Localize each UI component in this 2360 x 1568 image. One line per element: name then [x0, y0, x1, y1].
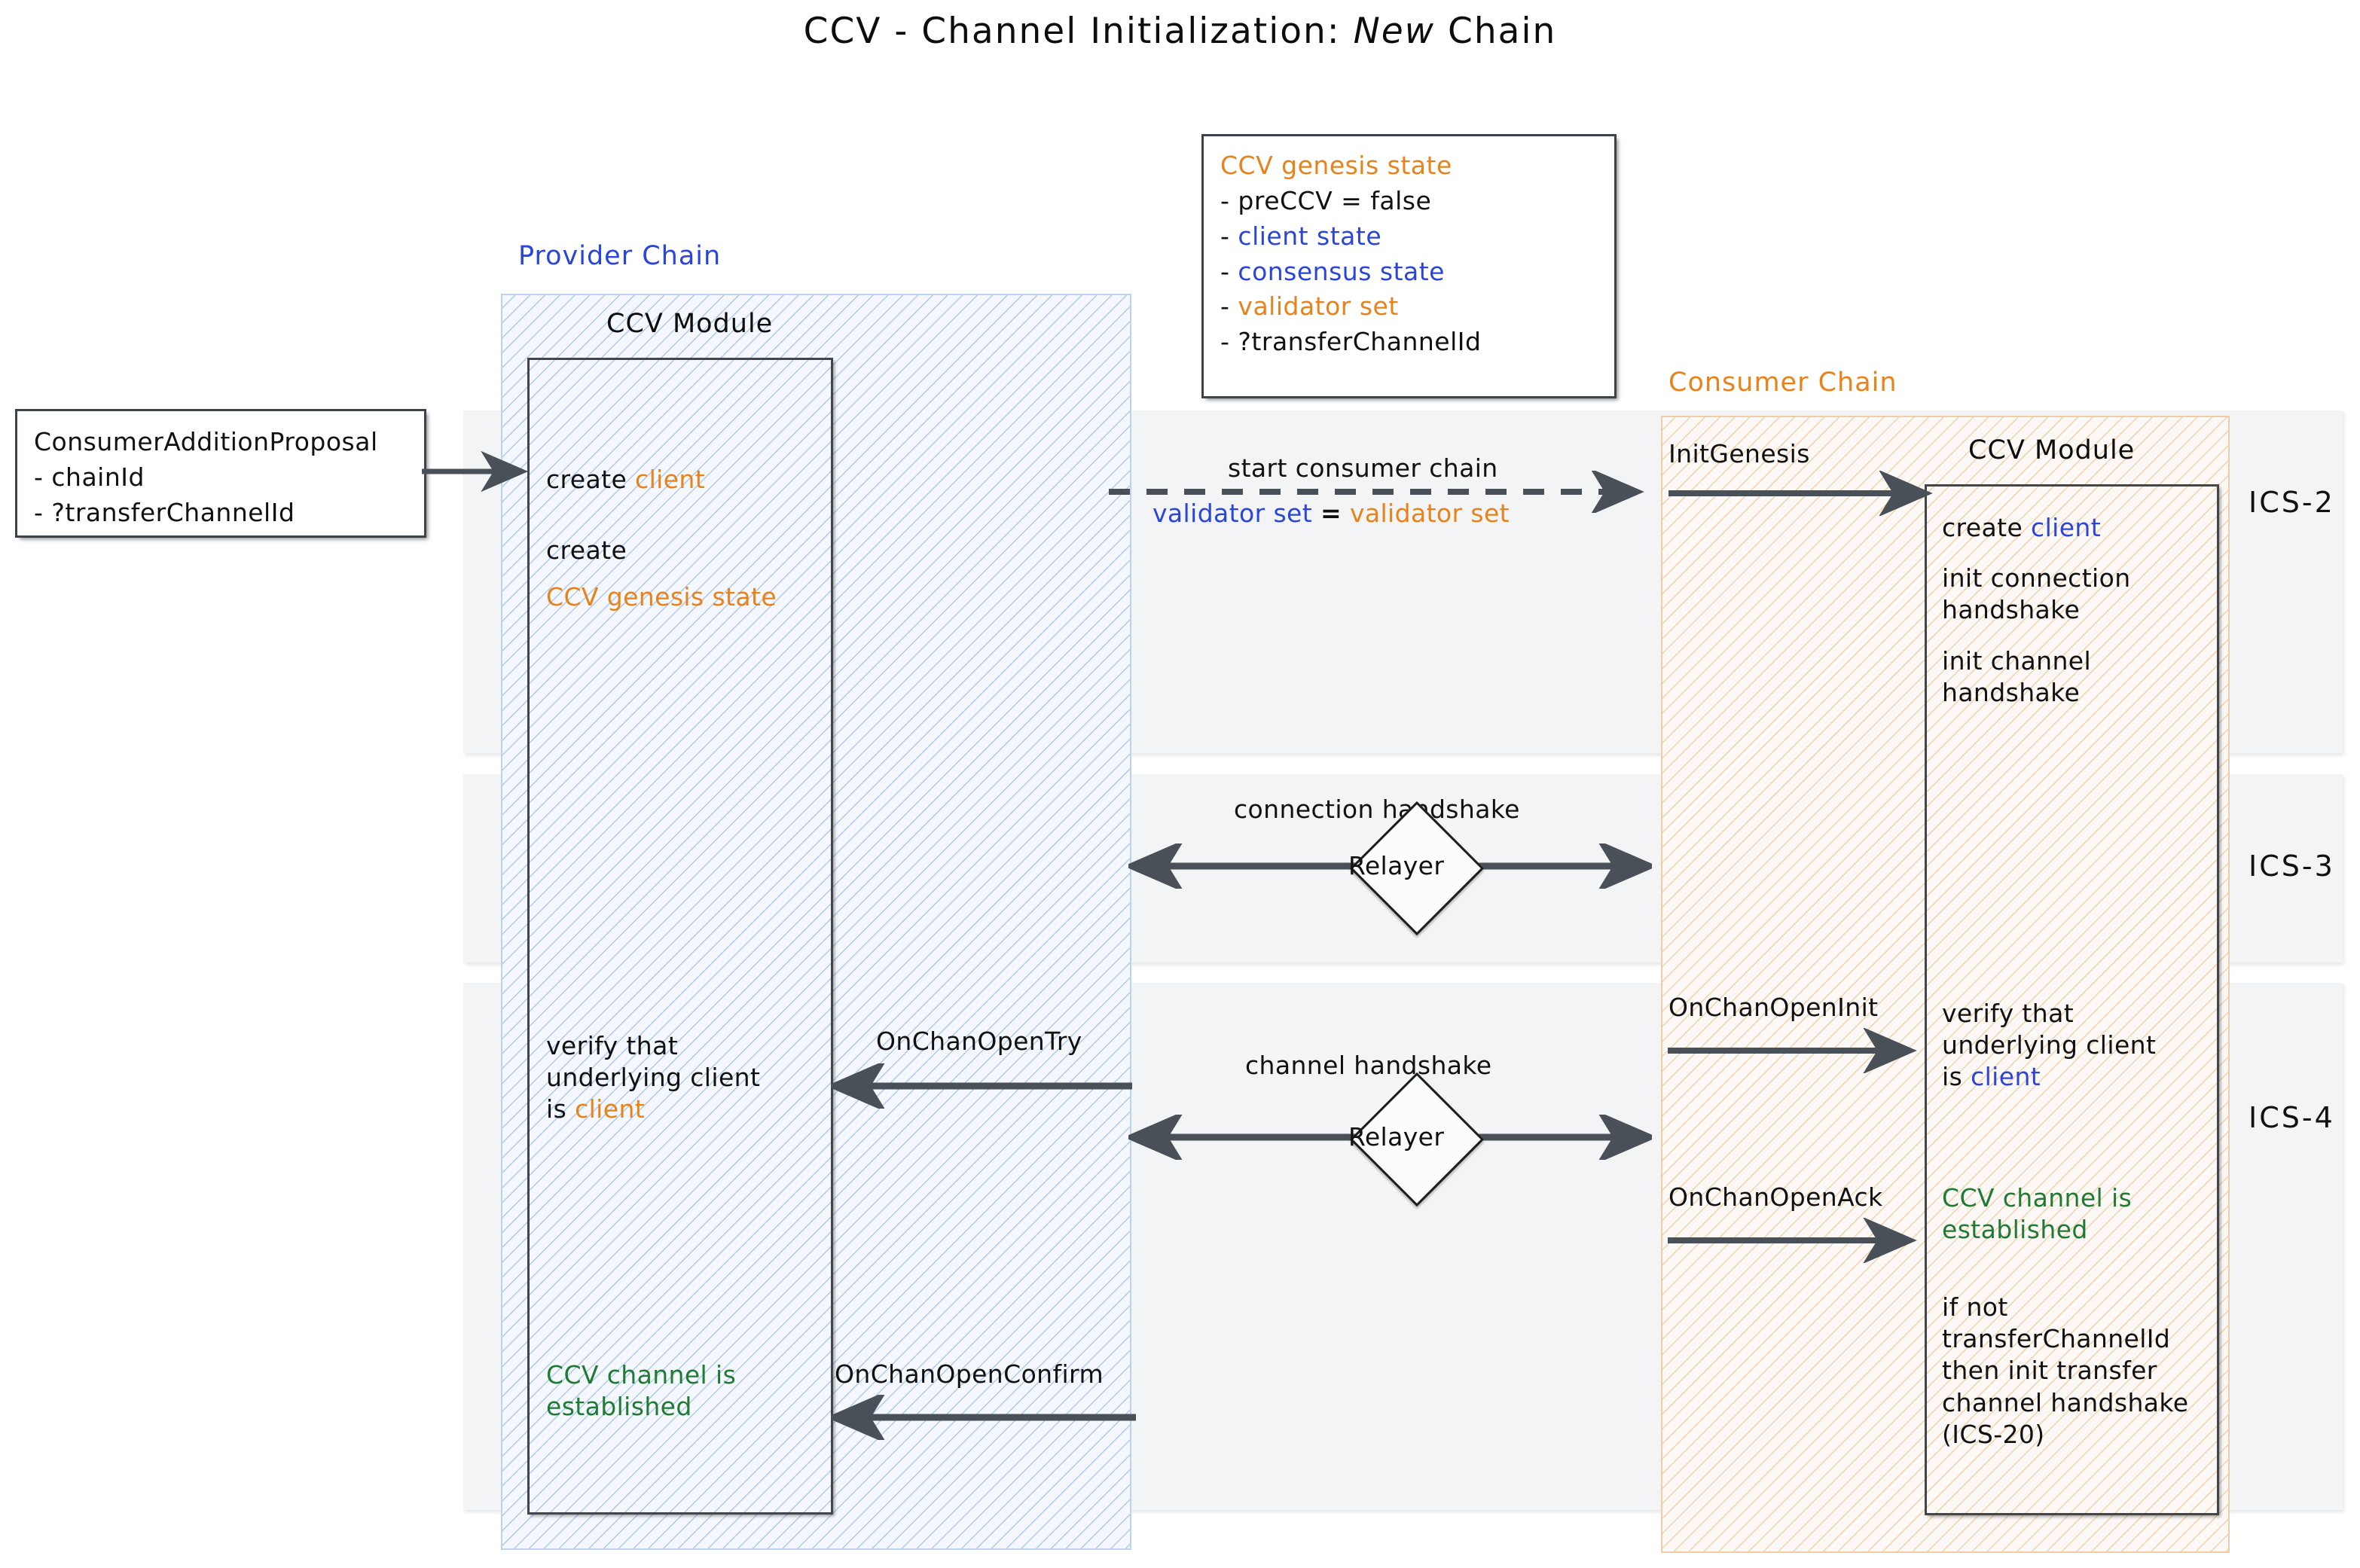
on-chan-open-init-label: OnChanOpenInit	[1668, 993, 1878, 1022]
genesis-text-3: validator set	[1238, 291, 1398, 321]
title-emphasis: New	[1354, 11, 1436, 52]
proposal-name: ConsumerAdditionProposal	[34, 425, 424, 460]
consumer-ccv-channel-established: CCV channel is established	[1942, 1182, 2132, 1246]
connection-handshake-right-arrow	[1467, 843, 1652, 889]
consumer-init-channel-l2: handshake	[1942, 677, 2131, 709]
consumer-chain-title: Consumer Chain	[1668, 368, 1897, 398]
provider-create-genesis: create CCV genesis state	[546, 535, 777, 613]
consumer-create-client-prefix: create	[1942, 513, 2031, 542]
validator-set-provider: validator set	[1153, 499, 1312, 528]
genesis-text-1: client state	[1238, 221, 1382, 251]
on-chan-open-confirm-label: OnChanOpenConfirm	[835, 1359, 1104, 1389]
provider-chain-title: Provider Chain	[518, 241, 721, 271]
consumer-ics2-block: create client init connection handshake …	[1942, 512, 2131, 709]
genesis-dash-4: -	[1220, 327, 1229, 356]
genesis-dash-1: -	[1220, 221, 1229, 251]
connection-handshake-label: connection handshake	[1234, 795, 1520, 824]
genesis-item-0: - preCCV = false	[1220, 184, 1614, 219]
ics-label-3: ICS-3	[2249, 850, 2335, 883]
ics-label-4: ICS-4	[2249, 1101, 2335, 1134]
title-suffix: Chain	[1435, 11, 1556, 52]
consumer-established-l1: CCV channel is	[1942, 1182, 2132, 1214]
consumer-established-l2: established	[1942, 1214, 2132, 1246]
genesis-item-1: - client state	[1220, 219, 1614, 255]
proposal-field-1: - ?transferChannelId	[34, 496, 424, 531]
consumer-transfer-l4: channel handshake	[1942, 1387, 2188, 1419]
provider-create-client-prefix: create	[546, 465, 635, 494]
validator-set-consumer: validator set	[1350, 499, 1510, 528]
connection-handshake-left-arrow	[1128, 843, 1377, 889]
title-prefix: CCV - Channel Initialization:	[804, 11, 1354, 52]
consumer-transfer-l1: if not	[1942, 1292, 2188, 1323]
consumer-module-title: CCV Module	[1968, 435, 2135, 465]
channel-handshake-label: channel handshake	[1245, 1051, 1491, 1080]
genesis-item-2: - consensus state	[1220, 255, 1614, 290]
genesis-item-3: - validator set	[1220, 289, 1614, 325]
genesis-text-4: ?transferChannelId	[1238, 327, 1481, 356]
genesis-text-2: consensus state	[1238, 257, 1445, 286]
channel-handshake-relayer-label: Relayer	[1348, 1122, 1444, 1152]
consumer-verify-l1: verify that	[1942, 998, 2156, 1030]
provider-verify-l1: verify that	[546, 1030, 760, 1062]
consumer-verify-client: verify that underlying client is client	[1942, 998, 2156, 1094]
consumer-addition-proposal-box: ConsumerAdditionProposal - chainId - ?tr…	[15, 409, 426, 538]
provider-module-title: CCV Module	[606, 309, 773, 339]
consumer-verify-l3-prefix: is	[1942, 1062, 1971, 1091]
on-chan-open-ack-label: OnChanOpenAck	[1668, 1182, 1883, 1212]
connection-handshake-relayer-label: Relayer	[1348, 851, 1444, 880]
consumer-transfer-l3: then init transfer	[1942, 1355, 2188, 1386]
genesis-dash-3: -	[1220, 291, 1229, 321]
validator-set-equality: validator set = validator set	[1153, 499, 1510, 528]
genesis-dash-2: -	[1220, 257, 1229, 286]
consumer-init-genesis-label: InitGenesis	[1668, 438, 1810, 470]
on-chan-open-confirm-arrow	[831, 1395, 1140, 1440]
provider-create-genesis-l2: CCV genesis state	[546, 581, 777, 613]
consumer-init-connection-l1: init connection	[1942, 563, 2131, 594]
provider-verify-l3-keyword: client	[575, 1094, 645, 1124]
provider-verify-l3: is client	[546, 1094, 760, 1125]
proposal-field-0: - chainId	[34, 460, 424, 496]
provider-create-genesis-l1: create	[546, 535, 777, 566]
proposal-to-provider-arrow	[420, 449, 541, 494]
on-chan-open-try-label: OnChanOpenTry	[876, 1027, 1082, 1056]
consumer-transfer-channel-note: if not transferChannelId then init trans…	[1942, 1292, 2188, 1451]
on-chan-open-ack-arrow	[1666, 1218, 1930, 1263]
provider-create-client: create client	[546, 464, 705, 496]
consumer-init-connection-l2: handshake	[1942, 594, 2131, 626]
provider-verify-l3-prefix: is	[546, 1094, 575, 1124]
consumer-verify-l3-keyword: client	[1971, 1062, 2041, 1091]
ccv-genesis-state-box: CCV genesis state - preCCV = false - cli…	[1201, 134, 1617, 398]
consumer-transfer-l5: (ICS-20)	[1942, 1419, 2188, 1451]
consumer-verify-l3: is client	[1942, 1061, 2156, 1093]
on-chan-open-init-arrow	[1666, 1028, 1930, 1073]
provider-established-l1: CCV channel is	[546, 1359, 736, 1391]
channel-handshake-left-arrow	[1128, 1115, 1377, 1160]
consumer-create-client: create client	[1942, 512, 2131, 544]
genesis-heading: CCV genesis state	[1220, 148, 1614, 184]
ics-label-2: ICS-2	[2249, 486, 2335, 519]
provider-ccv-module	[527, 358, 833, 1515]
page-title: CCV - Channel Initialization: New Chain	[0, 11, 2360, 52]
consumer-init-channel-l1: init channel	[1942, 645, 2131, 677]
provider-ccv-channel-established: CCV channel is established	[546, 1359, 736, 1423]
provider-verify-l2: underlying client	[546, 1062, 760, 1094]
consumer-transfer-l2: transferChannelId	[1942, 1323, 2188, 1355]
init-genesis-arrow	[1667, 471, 1946, 516]
provider-create-client-keyword: client	[635, 465, 705, 494]
on-chan-open-try-arrow	[831, 1063, 1136, 1109]
consumer-create-client-keyword: client	[2031, 513, 2101, 542]
equals-sign: =	[1320, 499, 1342, 528]
consumer-verify-l2: underlying client	[1942, 1030, 2156, 1061]
genesis-item-4: - ?transferChannelId	[1220, 325, 1614, 360]
genesis-text-0: preCCV = false	[1238, 186, 1431, 215]
provider-established-l2: established	[546, 1391, 736, 1423]
channel-handshake-right-arrow	[1467, 1115, 1652, 1160]
provider-verify-client: verify that underlying client is client	[546, 1030, 760, 1126]
genesis-dash-0: -	[1220, 186, 1229, 215]
